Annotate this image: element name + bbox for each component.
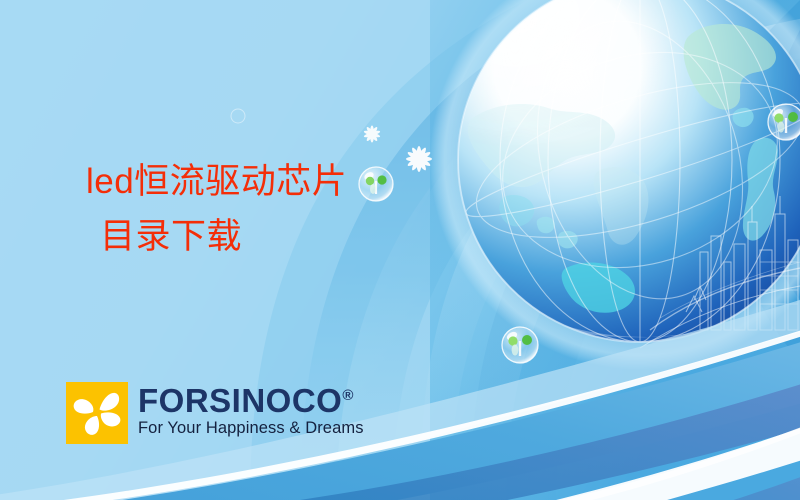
logo-tagline: For Your Happiness & Dreams — [138, 419, 364, 438]
bubble-with-sprout-right — [768, 104, 800, 140]
title-line-1: led恒流驱动芯片 — [86, 162, 347, 201]
company-logo[interactable]: FORSINOCO® For Your Happiness & Dreams — [66, 382, 364, 444]
logo-wordmark: FORSINOCO® — [138, 384, 364, 417]
bubble-with-sprout-left — [359, 167, 393, 201]
title-line-2: 目录下载 — [86, 217, 347, 256]
registered-trademark-icon: ® — [342, 387, 353, 404]
logo-text-block: FORSINOCO® For Your Happiness & Dreams — [138, 382, 364, 438]
poster-canvas: led恒流驱动芯片 目录下载 FORSINOCO® For Your Happi… — [0, 0, 800, 500]
bubble-with-sprout-center — [502, 327, 538, 363]
poster-title: led恒流驱动芯片 目录下载 — [86, 162, 347, 256]
logo-wordmark-text: FORSINOCO — [138, 382, 342, 419]
four-petal-pinwheel-mark — [66, 382, 128, 444]
